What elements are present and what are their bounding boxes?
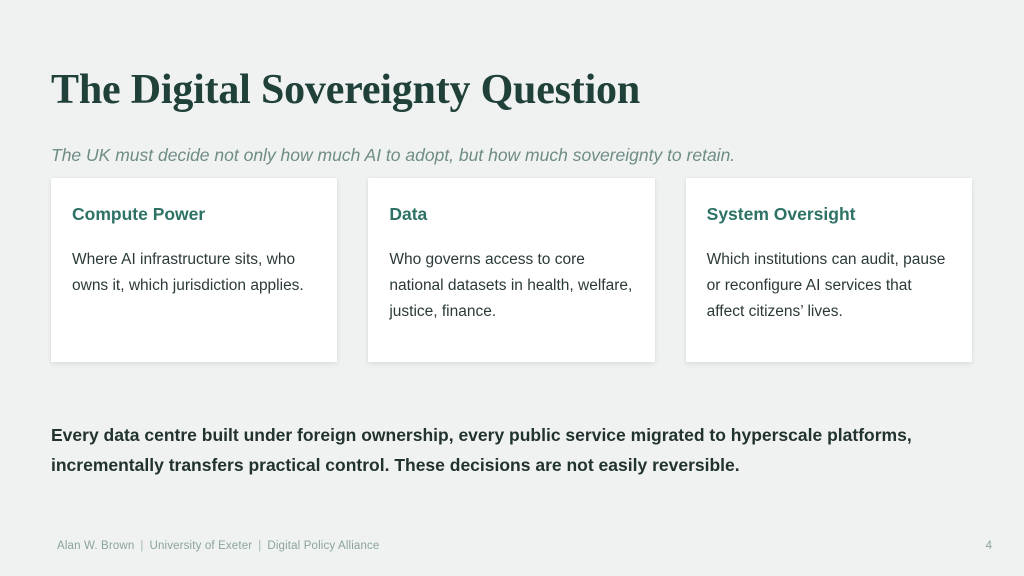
card-body: Where AI infrastructure sits, who owns i…: [72, 247, 316, 299]
closing-statement: Every data centre built under foreign ow…: [51, 420, 951, 480]
footer-separator: |: [134, 540, 149, 552]
slide-subtitle: The UK must decide not only how much AI …: [51, 144, 735, 167]
footer-institution: University of Exeter: [150, 540, 253, 552]
footer-separator: |: [252, 540, 267, 552]
card-heading: Data: [389, 204, 633, 225]
card-data: Data Who governs access to core national…: [368, 178, 654, 362]
card-heading: Compute Power: [72, 204, 316, 225]
footer-organisation: Digital Policy Alliance: [267, 540, 379, 552]
card-body: Who governs access to core national data…: [389, 247, 633, 325]
card-system-oversight: System Oversight Which institutions can …: [686, 178, 972, 362]
page-number: 4: [986, 540, 992, 552]
card-heading: System Oversight: [707, 204, 951, 225]
card-compute-power: Compute Power Where AI infrastructure si…: [51, 178, 337, 362]
footer-author: Alan W. Brown: [57, 540, 134, 552]
footer-credit: Alan W. Brown|University of Exeter|Digit…: [57, 540, 379, 552]
card-body: Which institutions can audit, pause or r…: [707, 247, 951, 325]
page-title: The Digital Sovereignty Question: [51, 66, 640, 114]
slide: The Digital Sovereignty Question The UK …: [0, 0, 1024, 576]
card-group: Compute Power Where AI infrastructure si…: [51, 178, 972, 362]
